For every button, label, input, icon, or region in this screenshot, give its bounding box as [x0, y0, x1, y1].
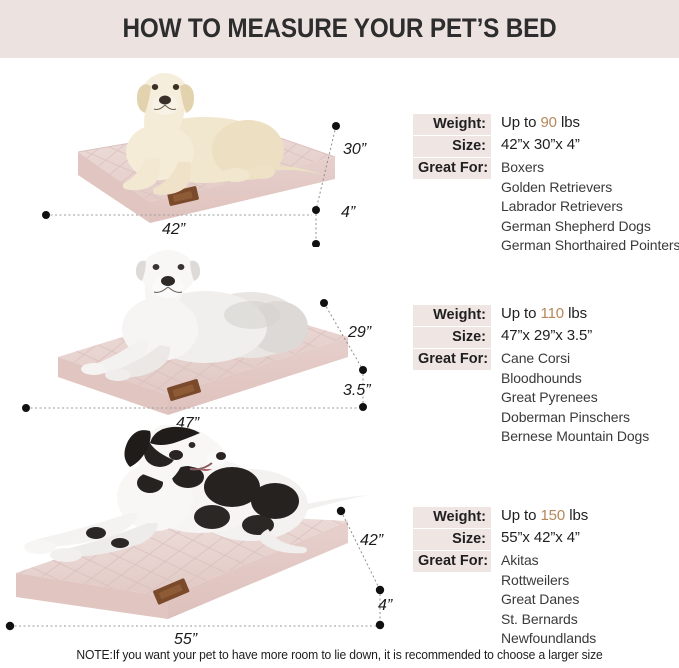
page-title: HOW TO MEASURE YOUR PET’S BED — [34, 13, 645, 44]
size-label: Size: — [413, 327, 491, 348]
dim-width-label: 29” — [347, 324, 372, 341]
dim-width-label: 42” — [360, 532, 384, 549]
info-panel-small: Weight: Up to 90 lbs Size: 42”x 30”x 4” … — [413, 114, 679, 256]
bed-illustration-small: 30” 4” 42” — [0, 62, 400, 247]
weight-value: Up to 150 lbs — [491, 507, 588, 525]
great-for-label: Great For: — [413, 158, 491, 179]
great-for-row: Great For: Akitas Rottweilers Great Dane… — [413, 551, 679, 649]
info-panel-large: Weight: Up to 150 lbs Size: 55”x 42”x 4”… — [413, 507, 679, 649]
size-row: Size: 55”x 42”x 4” — [413, 529, 679, 550]
weight-value: Up to 90 lbs — [491, 114, 580, 132]
list-item: Cane Corsi — [501, 349, 649, 369]
weight-label: Weight: — [413, 114, 491, 135]
list-item: Labrador Retrievers — [501, 197, 679, 217]
size-row: Size: 47”x 29”x 3.5” — [413, 327, 679, 348]
weight-row: Weight: Up to 110 lbs — [413, 305, 679, 326]
list-item: Rottweilers — [501, 571, 596, 591]
bed-svg-large: 42” 4” 55” — [0, 425, 400, 645]
list-item: Akitas — [501, 551, 596, 571]
list-item: Boxers — [501, 158, 679, 178]
bed-illustration-medium: 29” 3.5” 47” — [0, 245, 400, 435]
weight-value: Up to 110 lbs — [491, 305, 587, 323]
list-item: Bloodhounds — [501, 369, 649, 389]
footer-note: NOTE:If you want your pet to have more r… — [10, 648, 669, 662]
size-label: Size: — [413, 529, 491, 550]
list-item: St. Bernards — [501, 610, 596, 630]
product-block-large: 42” 4” 55” Weight: Up to 150 lbs Size: 5… — [0, 425, 679, 645]
list-item: Golden Retrievers — [501, 178, 679, 198]
great-for-row: Great For: Boxers Golden Retrievers Labr… — [413, 158, 679, 256]
dim-length-label: 42” — [162, 221, 186, 238]
bed-svg-medium: 29” 3.5” 47” — [0, 245, 400, 435]
size-label: Size: — [413, 136, 491, 157]
breed-list: Boxers Golden Retrievers Labrador Retrie… — [491, 158, 679, 256]
product-block-small: 30” 4” 42” Weight: Up to 90 lbs Size: 42… — [0, 62, 679, 247]
breed-list: Akitas Rottweilers Great Danes St. Berna… — [491, 551, 596, 649]
list-item: Great Danes — [501, 590, 596, 610]
list-item: Great Pyrenees — [501, 388, 649, 408]
dim-length-label: 55” — [174, 631, 198, 645]
product-block-medium: 29” 3.5” 47” Weight: Up to 110 lbs Size:… — [0, 245, 679, 435]
size-value: 47”x 29”x 3.5” — [491, 327, 592, 345]
bed-illustration-large: 42” 4” 55” — [0, 425, 400, 645]
list-item: Newfoundlands — [501, 629, 596, 649]
weight-row: Weight: Up to 150 lbs — [413, 507, 679, 528]
weight-label: Weight: — [413, 507, 491, 528]
bed-svg-small: 30” 4” 42” — [0, 62, 400, 247]
weight-label: Weight: — [413, 305, 491, 326]
dim-height-label: 3.5” — [343, 382, 371, 399]
size-value: 42”x 30”x 4” — [491, 136, 580, 154]
great-for-label: Great For: — [413, 551, 491, 572]
size-row: Size: 42”x 30”x 4” — [413, 136, 679, 157]
dim-height-label: 4” — [378, 597, 393, 614]
dim-height-label: 4” — [341, 204, 356, 221]
great-for-label: Great For: — [413, 349, 491, 370]
dim-width-label: 30” — [343, 141, 367, 158]
list-item: German Shepherd Dogs — [501, 217, 679, 237]
weight-row: Weight: Up to 90 lbs — [413, 114, 679, 135]
size-value: 55”x 42”x 4” — [491, 529, 580, 547]
